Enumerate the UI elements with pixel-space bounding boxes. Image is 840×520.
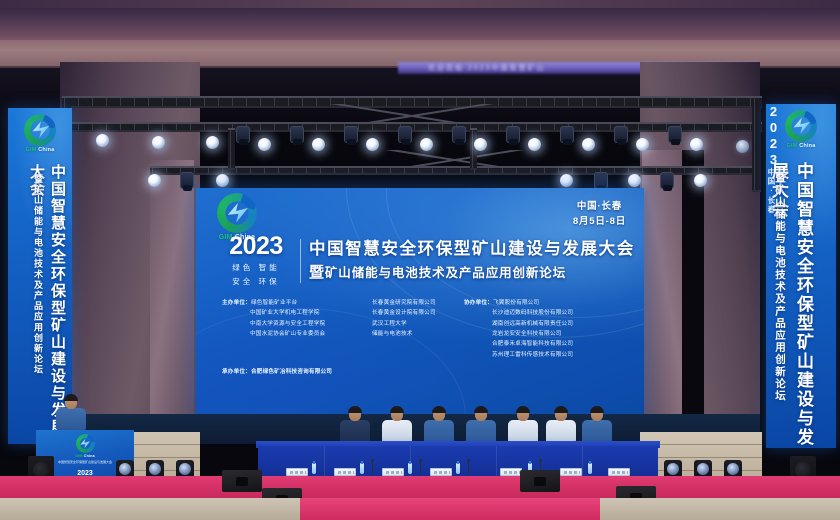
truss-vertical-right — [752, 96, 761, 192]
spotlight-icon — [148, 174, 161, 187]
co-host-item: 飞翼股份有限公司 — [493, 300, 539, 306]
gim-china-logo-icon: GIM China — [12, 114, 68, 158]
microphone-icon — [468, 461, 469, 474]
right-wall-gap — [682, 150, 704, 440]
host-item: 中国水泥协会矿山专业委员会 — [222, 329, 372, 339]
undertaker-row: 承办单位：合肥绿色矿冶科技咨询有限公司 — [222, 367, 630, 377]
water-bottle — [588, 463, 592, 474]
ceiling-led-text: 欢迎莅临 2023中国智慧矿山 — [428, 63, 546, 73]
gim-china-logo-icon: GIM China — [65, 434, 105, 460]
year-block: 2023 绿色 智能 安全 环保 — [220, 234, 298, 288]
water-bottle — [408, 463, 412, 474]
microphone-icon — [420, 461, 421, 474]
co-host-item: 长沙迪迈数码科技股份有限公司 — [464, 308, 573, 318]
spotlight-icon — [736, 140, 749, 153]
host-item: 中南大学资源与安全工程学院 — [222, 319, 372, 329]
panelist — [424, 408, 454, 442]
host-item: 长春黄金研究院有限公司 — [372, 298, 464, 308]
slogan-line-1: 绿色 智能 — [220, 262, 292, 273]
moving-head-light-icon — [290, 126, 304, 143]
spotlight-icon — [420, 138, 433, 151]
panelist — [466, 408, 496, 442]
logo-text-main: GIM — [786, 143, 797, 149]
undertaker-name: 合肥绿色矿冶科技咨询有限公司 — [251, 369, 332, 375]
stage-monitor-speaker — [222, 470, 262, 492]
subtitle-mark: 暨 — [309, 264, 325, 281]
spotlight-icon — [96, 134, 109, 147]
moving-head-light-icon — [506, 126, 520, 143]
moving-head-light-icon — [594, 172, 608, 189]
stage-monitor-speaker — [520, 470, 560, 492]
logo-text-main: GIM — [75, 454, 82, 458]
moving-head-light-icon — [344, 126, 358, 143]
spotlight-icon — [628, 174, 641, 187]
host-item: 绿色智能矿业平台 — [251, 300, 297, 306]
moving-head-light-icon — [236, 126, 250, 143]
spotlight-icon — [582, 138, 595, 151]
microphone-icon — [372, 461, 373, 474]
banner-left-subtitle: 暨矿山储能与电池技术及产品应用创新论坛 — [32, 174, 45, 375]
nameplate — [334, 468, 356, 476]
undertaker-label: 承办单位： — [222, 369, 251, 375]
host-item: 储能与电池技术 — [372, 329, 464, 339]
event-year: 2023 — [220, 234, 292, 259]
logo-text-main: GIM — [25, 147, 36, 153]
left-vertical-banner: GIM China 中国智慧安全环保型矿山建设与发展大会 暨矿山储能与电池技术及… — [8, 108, 72, 444]
event-city: 中国·长春 — [573, 200, 626, 215]
title-divider — [300, 239, 301, 283]
spotlight-icon — [366, 138, 379, 151]
host-column-1: 主办单位：绿色智能矿业平台 中国矿业大学机电工程学院 中南大学资源与安全工程学院… — [222, 298, 372, 360]
speaker-at-podium — [56, 396, 86, 430]
co-host-item: 湖南创远高新机械有限责任公司 — [464, 319, 573, 329]
nameplate — [286, 468, 308, 476]
event-date-block: 中国·长春 8月5日-8日 — [573, 200, 626, 229]
nameplate — [608, 468, 630, 476]
host-item: 长春黄金设计院有限公司 — [372, 308, 464, 318]
spotlight-icon — [690, 138, 703, 151]
water-bottle — [456, 463, 460, 474]
moving-head-light-icon — [560, 126, 574, 143]
moving-head-light-icon — [668, 126, 682, 143]
spotlight-icon — [694, 174, 707, 187]
spotlight-icon — [152, 136, 165, 149]
co-host-column: 协办单位：飞翼股份有限公司 长沙迪迈数码科技股份有限公司 湖南创远高新机械有限责… — [464, 298, 573, 360]
spotlight-icon — [636, 138, 649, 151]
nameplate — [500, 468, 522, 476]
moving-head-light-icon — [180, 172, 194, 189]
moving-head-light-icon — [452, 126, 466, 143]
spotlight-icon — [216, 174, 229, 187]
right-vertical-banner: GIM China 2023 中国·长春 中国智慧安全环保型矿山建设与发展大会 … — [766, 104, 836, 448]
carpet-runner — [300, 498, 600, 520]
banner-right-subtitle: 暨矿山储能与电池技术及产品应用创新论坛 — [773, 172, 788, 402]
nameplate — [560, 468, 582, 476]
conference-title: 中国智慧安全环保型矿山建设与发展大会 — [309, 239, 635, 260]
truss-lower-bracing — [150, 150, 760, 168]
truss-vertical-center-left — [228, 128, 235, 170]
logo-text-sub: China — [799, 143, 815, 149]
spotlight-icon — [560, 174, 573, 187]
panelist — [546, 408, 576, 442]
panelist — [382, 408, 412, 442]
co-host-label: 协办单位： — [464, 300, 493, 306]
spotlight-icon — [258, 138, 271, 151]
nameplate — [382, 468, 404, 476]
co-host-item: 苏州理工雷科传感技术有限公司 — [464, 350, 573, 360]
logo-text-sub: China — [38, 147, 54, 153]
panelist — [582, 408, 612, 442]
organizers-block: 主办单位：绿色智能矿业平台 中国矿业大学机电工程学院 中南大学资源与安全工程学院… — [222, 298, 630, 377]
conference-subtitle: 暨矿山储能与电池技术及产品应用创新论坛 — [309, 263, 635, 283]
panelist — [508, 408, 538, 442]
title-row: 2023 绿色 智能 安全 环保 中国智慧安全环保型矿山建设与发展大会 暨矿山储… — [220, 234, 635, 288]
moving-head-light-icon — [660, 172, 674, 189]
slogan-line-2: 安全 环保 — [220, 276, 292, 287]
left-wall-panel — [150, 160, 194, 430]
spotlight-icon — [474, 138, 487, 151]
logo-text-sub: China — [84, 454, 95, 458]
right-wall-panel — [642, 150, 682, 430]
moving-head-light-icon — [614, 126, 628, 143]
ceiling-beam — [0, 0, 840, 8]
conference-stage-scene: 欢迎莅临 2023中国智慧矿山 — [0, 0, 840, 520]
spotlight-icon — [206, 136, 219, 149]
panelist — [340, 408, 370, 442]
spotlight-icon — [528, 138, 541, 151]
title-texts: 中国智慧安全环保型矿山建设与发展大会 暨矿山储能与电池技术及产品应用创新论坛 — [309, 239, 635, 282]
event-date: 8月5日-8日 — [573, 215, 626, 230]
water-bottle — [360, 463, 364, 474]
truss-mid-horizontal — [62, 122, 762, 132]
moving-head-light-icon — [398, 126, 412, 143]
co-host-item: 龙岩龙安安全科技有限公司 — [464, 329, 573, 339]
subtitle-text: 矿山储能与电池技术及产品应用创新论坛 — [325, 266, 566, 280]
main-led-screen: GIM China 中国·长春 8月5日-8日 2023 绿色 智能 安全 环保… — [196, 188, 644, 420]
nameplate — [430, 468, 452, 476]
gim-china-logo-icon: GIM China — [773, 110, 829, 154]
co-host-item: 合肥泰禾卓海智能科技有限公司 — [464, 339, 573, 349]
spotlight-icon — [312, 138, 325, 151]
water-bottle — [312, 463, 316, 474]
host-item: 武汉工程大学 — [372, 319, 464, 329]
host-column-2: 长春黄金研究院有限公司 长春黄金设计院有限公司 武汉工程大学 储能与电池技术 — [372, 298, 464, 360]
host-item: 中国矿业大学机电工程学院 — [222, 308, 372, 318]
host-label: 主办单位： — [222, 300, 251, 306]
